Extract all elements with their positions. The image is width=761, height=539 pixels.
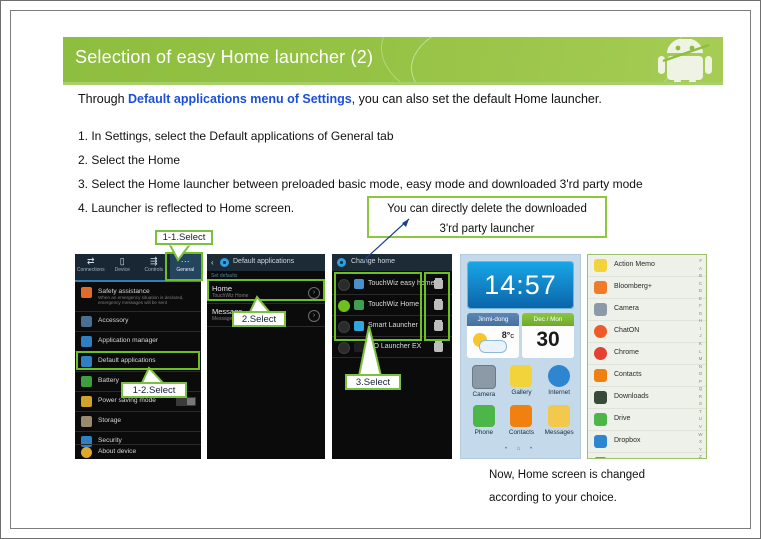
- home-icon-camera[interactable]: Camera: [467, 365, 500, 398]
- home-icon-contacts[interactable]: Contacts: [505, 405, 538, 436]
- home-icon-messages[interactable]: Messages: [543, 405, 576, 436]
- header-underline: [63, 82, 723, 85]
- alphabet-index-letter[interactable]: #: [696, 257, 705, 265]
- messages-icon: [548, 405, 570, 427]
- storage-icon: [81, 416, 92, 427]
- alphabet-index-letter[interactable]: L: [696, 348, 705, 356]
- settings-item-label: Power saving mode: [98, 397, 156, 404]
- settings-item-label: Storage: [98, 417, 121, 424]
- camera-icon: [594, 303, 607, 316]
- callout-3: 3.Select: [345, 374, 401, 390]
- alphabet-index[interactable]: #ABCDEFGHIJKLMNOPQRSTUVWXYZ: [696, 257, 705, 459]
- settings-item-application-manager[interactable]: Application manager: [75, 332, 201, 351]
- app-row-partial[interactable]: Dynamic: [588, 453, 706, 459]
- app-drawer-screen[interactable]: Action Memo Bloomberg+ Camera ChatON Chr…: [587, 254, 707, 459]
- alphabet-index-letter[interactable]: T: [696, 408, 705, 416]
- alphabet-index-letter[interactable]: I: [696, 325, 705, 333]
- app-row-camera[interactable]: Camera: [588, 299, 706, 321]
- alphabet-index-letter[interactable]: O: [696, 370, 705, 378]
- alphabet-index-letter[interactable]: Y: [696, 446, 705, 454]
- contacts-icon: [510, 405, 532, 427]
- alphabet-index-letter[interactable]: B: [696, 272, 705, 280]
- intro-link: Default applications menu of Settings: [128, 92, 352, 106]
- alphabet-index-letter[interactable]: H: [696, 317, 705, 325]
- callout-1-1-tail: [161, 243, 207, 261]
- alphabet-index-letter[interactable]: A: [696, 265, 705, 273]
- tab-connections[interactable]: ⇄ Connections: [75, 254, 107, 280]
- chaton-icon: [594, 325, 607, 338]
- callout-2: 2.Select: [232, 311, 286, 327]
- tab-controls-label: Controls: [144, 267, 163, 273]
- settings-item-label: Application manager: [98, 337, 158, 344]
- clock-time: 14:57: [467, 270, 574, 301]
- cloud-icon: [479, 340, 507, 353]
- alphabet-index-letter[interactable]: V: [696, 423, 705, 431]
- home-icon-internet[interactable]: Internet: [543, 365, 576, 398]
- gallery-icon: [510, 365, 532, 387]
- drive-icon: [594, 413, 607, 426]
- home-icon-row-1: Camera Gallery Internet: [465, 365, 578, 398]
- alphabet-index-letter[interactable]: W: [696, 431, 705, 439]
- power-saving-icon: [81, 396, 92, 407]
- alphabet-index-letter[interactable]: J: [696, 332, 705, 340]
- app-row-contacts[interactable]: Contacts: [588, 365, 706, 387]
- alphabet-index-letter[interactable]: U: [696, 415, 705, 423]
- app-row-action-memo[interactable]: Action Memo: [588, 255, 706, 277]
- app-row-dropbox[interactable]: Dropbox: [588, 431, 706, 453]
- footer-line-1: Now, Home screen is changed: [489, 464, 645, 487]
- intro-before: Through: [78, 92, 128, 106]
- chrome-icon: [594, 347, 607, 360]
- home-icon-grid: Camera Gallery Internet Phone: [465, 365, 578, 443]
- slide-page: Selection of easy Home launcher (2) Thro…: [0, 0, 761, 539]
- home-icon-phone[interactable]: Phone: [467, 405, 500, 436]
- phone-icon: [473, 405, 495, 427]
- settings-item-safety-assistance[interactable]: Safety assistance When an emergency situ…: [75, 283, 201, 311]
- slide-frame: Selection of easy Home launcher (2) Thro…: [10, 10, 751, 529]
- intro-after: , you can also set the default Home laun…: [352, 92, 602, 106]
- tab-connections-label: Connections: [77, 267, 105, 273]
- settings-item-accessory[interactable]: Accessory: [75, 312, 201, 331]
- alphabet-index-letter[interactable]: K: [696, 340, 705, 348]
- contacts-icon: [594, 369, 607, 382]
- tab-device-label: Device: [115, 267, 130, 273]
- intro-text: Through Default applications menu of Set…: [78, 92, 602, 106]
- alphabet-index-letter[interactable]: C: [696, 280, 705, 288]
- settings-item-label: About device: [98, 448, 136, 455]
- weather-city: Jinmi-dong: [467, 313, 519, 326]
- alphabet-index-letter[interactable]: P: [696, 378, 705, 386]
- alphabet-index-letter[interactable]: E: [696, 295, 705, 303]
- date-head: Dec / Mon: [522, 313, 574, 326]
- step-1: 1. In Settings, select the Default appli…: [78, 129, 643, 143]
- bloomberg-icon: [594, 281, 607, 294]
- clock-widget[interactable]: 14:57: [467, 261, 574, 309]
- application-manager-icon: [81, 336, 92, 347]
- slide-header: Selection of easy Home launcher (2): [63, 37, 723, 82]
- app-icon: [594, 457, 607, 459]
- home-icon-row-2: Phone Contacts Messages: [465, 405, 578, 436]
- app-row-chrome[interactable]: Chrome: [588, 343, 706, 365]
- device-icon: ▯: [107, 257, 139, 266]
- trash-icon[interactable]: [434, 341, 443, 352]
- note-pointer-arrow: [341, 216, 421, 266]
- alphabet-index-letter[interactable]: Z: [696, 453, 705, 459]
- action-memo-icon: [594, 259, 607, 272]
- alphabet-index-letter[interactable]: M: [696, 355, 705, 363]
- alphabet-index-letter[interactable]: X: [696, 438, 705, 446]
- alphabet-index-letter[interactable]: R: [696, 393, 705, 401]
- callout-1-2: 1-2.Select: [121, 382, 187, 398]
- chevron-right-icon[interactable]: ›: [308, 310, 320, 322]
- power-saving-toggle[interactable]: [176, 397, 196, 406]
- step-3: 3. Select the Home launcher between prel…: [78, 177, 643, 191]
- date-number: 30: [522, 328, 574, 352]
- alphabet-index-letter[interactable]: F: [696, 302, 705, 310]
- home-screen-preview[interactable]: 14:57 Jinmi-dong 8°C Dec / Mon 30 Camera…: [460, 254, 581, 459]
- android-robot-icon: [655, 39, 715, 82]
- default-apps-title: Default applications: [233, 258, 294, 265]
- safety-assistance-icon: [81, 287, 92, 298]
- page-indicator: • ⌂ •: [461, 446, 580, 452]
- callout-1-1: 1-1.Select: [155, 230, 213, 245]
- weather-temp: 8°C: [502, 330, 514, 340]
- accessory-icon: [81, 316, 92, 327]
- home-icon-gallery[interactable]: Gallery: [505, 365, 538, 398]
- app-row-drive[interactable]: Drive: [588, 409, 706, 431]
- highlight-delete-column: [424, 272, 450, 341]
- gear-icon: [220, 258, 229, 267]
- internet-icon: [548, 365, 570, 387]
- alphabet-index-letter[interactable]: Q: [696, 385, 705, 393]
- footer-text: Now, Home screen is changed according to…: [489, 464, 645, 510]
- tab-device[interactable]: ▯ Device: [107, 254, 139, 280]
- settings-item-label: Accessory: [98, 317, 128, 324]
- date-widget[interactable]: Dec / Mon 30: [522, 313, 574, 358]
- alphabet-index-letter[interactable]: G: [696, 310, 705, 318]
- settings-item-storage[interactable]: Storage: [75, 412, 201, 431]
- app-row-bloomberg[interactable]: Bloomberg+: [588, 277, 706, 299]
- page-title: Selection of easy Home launcher (2): [75, 47, 373, 68]
- callout-3-tail: [347, 326, 403, 376]
- app-row-chaton[interactable]: ChatON: [588, 321, 706, 343]
- alphabet-index-letter[interactable]: D: [696, 287, 705, 295]
- settings-item-sub: When an emergency situation is declared,…: [98, 295, 193, 306]
- downloads-icon: [594, 391, 607, 404]
- battery-icon: [81, 376, 92, 387]
- settings-item-about-device[interactable]: About device: [75, 443, 201, 459]
- camera-icon: [472, 365, 496, 389]
- settings-item-label: Safety assistance: [98, 288, 150, 295]
- header-swoosh-decor-2: [381, 37, 683, 82]
- settings-item-label: Battery: [98, 377, 119, 384]
- back-chevron-icon[interactable]: ‹: [211, 258, 214, 267]
- connections-icon: ⇄: [75, 257, 107, 266]
- footer-line-2: according to your choice.: [489, 487, 645, 510]
- dropbox-icon: [594, 435, 607, 448]
- step-2: 2. Select the Home: [78, 153, 643, 167]
- weather-widget[interactable]: Jinmi-dong 8°C: [467, 313, 519, 358]
- app-row-downloads[interactable]: Downloads: [588, 387, 706, 409]
- default-apps-titlebar: ‹ Default applications: [207, 254, 325, 271]
- alphabet-index-letter[interactable]: N: [696, 363, 705, 371]
- alphabet-index-letter[interactable]: S: [696, 400, 705, 408]
- about-device-icon: [81, 447, 92, 458]
